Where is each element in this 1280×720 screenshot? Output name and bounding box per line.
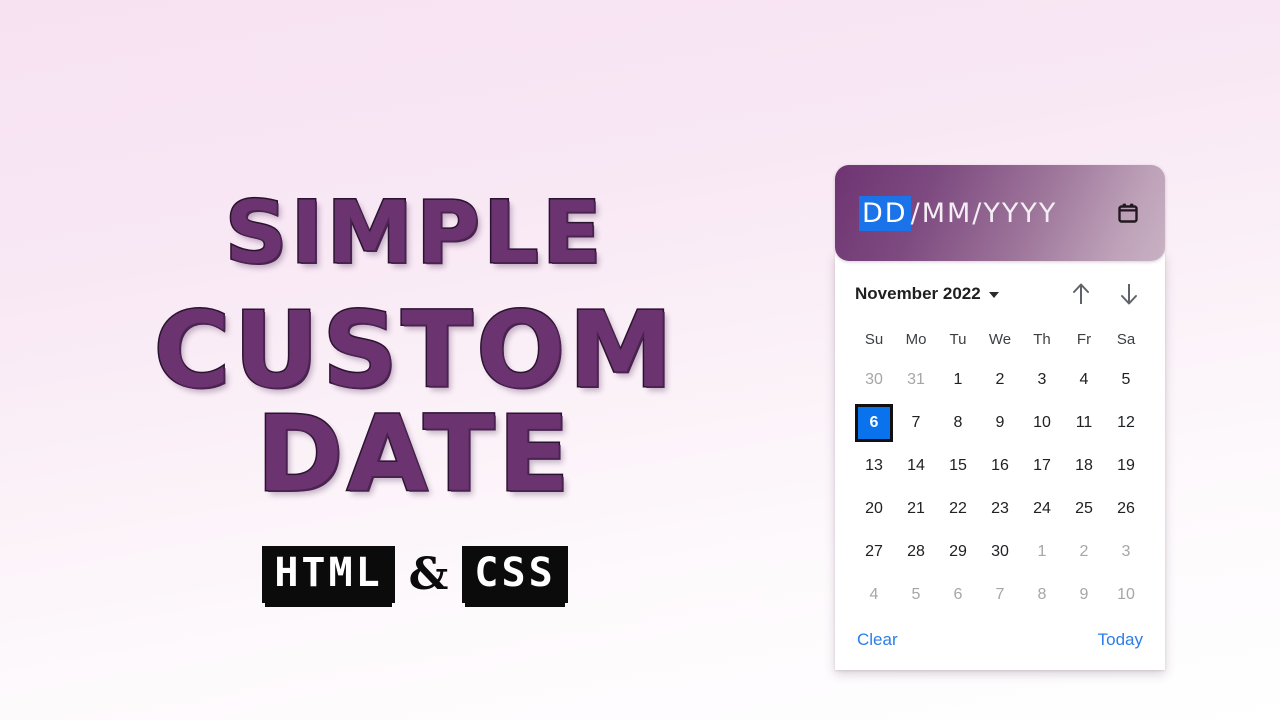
tech-badge-html: HTML bbox=[262, 546, 394, 603]
date-segment-day[interactable]: DD bbox=[859, 196, 911, 231]
calendar-cell: 1 bbox=[937, 358, 979, 401]
hero-title-line-1: Simple bbox=[0, 190, 830, 276]
calendar-week-row: 20212223242526 bbox=[853, 487, 1147, 530]
calendar-cell: 5 bbox=[895, 573, 937, 616]
calendar-day[interactable]: 9 bbox=[981, 404, 1019, 442]
calendar-cell: 20 bbox=[853, 487, 895, 530]
clear-button[interactable]: Clear bbox=[857, 630, 898, 650]
calendar-day[interactable]: 21 bbox=[897, 490, 935, 528]
calendar-cell: 19 bbox=[1105, 444, 1147, 487]
calendar-day[interactable]: 10 bbox=[1107, 576, 1145, 614]
calendar-cell: 7 bbox=[895, 401, 937, 444]
calendar-cell: 28 bbox=[895, 530, 937, 573]
calendar-cell: 6 bbox=[937, 573, 979, 616]
calendar-day[interactable]: 6 bbox=[939, 576, 977, 614]
calendar-cell: 26 bbox=[1105, 487, 1147, 530]
calendar-cell: 9 bbox=[979, 401, 1021, 444]
month-year-dropdown[interactable]: November 2022 bbox=[855, 284, 999, 304]
calendar-header: November 2022 bbox=[853, 277, 1147, 311]
calendar-panel: November 2022 bbox=[835, 253, 1165, 670]
calendar-cell: 1 bbox=[1021, 530, 1063, 573]
calendar-day[interactable]: 24 bbox=[1023, 490, 1061, 528]
hero-title-line-2: Custom Date bbox=[0, 298, 830, 506]
calendar-cell: 4 bbox=[1063, 358, 1105, 401]
calendar-day[interactable]: 2 bbox=[1065, 533, 1103, 571]
weekday-header: Th bbox=[1021, 323, 1063, 358]
date-input-field[interactable]: DD/MM/YYYY bbox=[835, 165, 1165, 261]
arrow-up-icon[interactable] bbox=[1065, 278, 1097, 310]
calendar-cell: 31 bbox=[895, 358, 937, 401]
calendar-cell: 10 bbox=[1105, 573, 1147, 616]
calendar-day[interactable]: 31 bbox=[897, 361, 935, 399]
calendar-cell: 9 bbox=[1063, 573, 1105, 616]
weekday-header: Mo bbox=[895, 323, 937, 358]
hero-subtitle: HTML & CSS bbox=[0, 546, 830, 603]
calendar-cell: 30 bbox=[853, 358, 895, 401]
calendar-day[interactable]: 9 bbox=[1065, 576, 1103, 614]
calendar-day[interactable]: 10 bbox=[1023, 404, 1061, 442]
weekday-header: Sa bbox=[1105, 323, 1147, 358]
calendar-day[interactable]: 30 bbox=[855, 361, 893, 399]
calendar-cell: 12 bbox=[1105, 401, 1147, 444]
date-separator-2: / bbox=[972, 196, 983, 231]
calendar-cell: 30 bbox=[979, 530, 1021, 573]
calendar-day[interactable]: 7 bbox=[897, 404, 935, 442]
calendar-week-row: 45678910 bbox=[853, 573, 1147, 616]
calendar-cell: 13 bbox=[853, 444, 895, 487]
calendar-day[interactable]: 11 bbox=[1065, 404, 1103, 442]
calendar-cell: 23 bbox=[979, 487, 1021, 530]
calendar-footer: Clear Today bbox=[853, 616, 1147, 656]
calendar-icon[interactable] bbox=[1113, 198, 1143, 228]
calendar-cell: 18 bbox=[1063, 444, 1105, 487]
calendar-week-row: 6789101112 bbox=[853, 401, 1147, 444]
calendar-week-row: 13141516171819 bbox=[853, 444, 1147, 487]
calendar-day[interactable]: 16 bbox=[981, 447, 1019, 485]
calendar-cell: 6 bbox=[853, 401, 895, 444]
calendar-day[interactable]: 4 bbox=[855, 576, 893, 614]
calendar-cell: 17 bbox=[1021, 444, 1063, 487]
date-segment-month[interactable]: MM bbox=[922, 196, 973, 231]
tech-badge-css: CSS bbox=[462, 546, 567, 603]
calendar-day[interactable]: 5 bbox=[897, 576, 935, 614]
weekday-header: Tu bbox=[937, 323, 979, 358]
calendar-day-rows: 3031123456789101112131415161718192021222… bbox=[853, 358, 1147, 616]
calendar-day[interactable]: 22 bbox=[939, 490, 977, 528]
calendar-day[interactable]: 30 bbox=[981, 533, 1019, 571]
calendar-cell: 4 bbox=[853, 573, 895, 616]
date-segment-year[interactable]: YYYY bbox=[983, 196, 1057, 231]
calendar-cell: 15 bbox=[937, 444, 979, 487]
calendar-nav-group bbox=[1065, 278, 1145, 310]
calendar-day[interactable]: 27 bbox=[855, 533, 893, 571]
calendar-day[interactable]: 1 bbox=[939, 361, 977, 399]
calendar-cell: 5 bbox=[1105, 358, 1147, 401]
calendar-day[interactable]: 8 bbox=[939, 404, 977, 442]
calendar-day[interactable]: 18 bbox=[1065, 447, 1103, 485]
calendar-grid: SuMoTuWeThFrSa 3031123456789101112131415… bbox=[853, 323, 1147, 616]
calendar-day[interactable]: 29 bbox=[939, 533, 977, 571]
calendar-cell: 2 bbox=[1063, 530, 1105, 573]
calendar-day[interactable]: 2 bbox=[981, 361, 1019, 399]
calendar-day[interactable]: 19 bbox=[1107, 447, 1145, 485]
calendar-cell: 2 bbox=[979, 358, 1021, 401]
calendar-day[interactable]: 3 bbox=[1023, 361, 1061, 399]
date-picker-widget[interactable]: DD/MM/YYYY November 2022 bbox=[835, 165, 1165, 670]
calendar-day[interactable]: 20 bbox=[855, 490, 893, 528]
chevron-down-icon bbox=[989, 292, 999, 298]
weekday-header-row: SuMoTuWeThFrSa bbox=[853, 323, 1147, 358]
calendar-cell: 14 bbox=[895, 444, 937, 487]
calendar-cell: 3 bbox=[1021, 358, 1063, 401]
weekday-header: We bbox=[979, 323, 1021, 358]
calendar-cell: 11 bbox=[1063, 401, 1105, 444]
calendar-day[interactable]: 1 bbox=[1023, 533, 1061, 571]
calendar-cell: 29 bbox=[937, 530, 979, 573]
calendar-cell: 16 bbox=[979, 444, 1021, 487]
calendar-cell: 22 bbox=[937, 487, 979, 530]
calendar-cell: 10 bbox=[1021, 401, 1063, 444]
calendar-day[interactable]: 12 bbox=[1107, 404, 1145, 442]
calendar-day[interactable]: 26 bbox=[1107, 490, 1145, 528]
calendar-day[interactable]: 25 bbox=[1065, 490, 1103, 528]
calendar-cell: 8 bbox=[937, 401, 979, 444]
date-input-text[interactable]: DD/MM/YYYY bbox=[859, 196, 1057, 231]
calendar-cell: 7 bbox=[979, 573, 1021, 616]
calendar-week-row: 27282930123 bbox=[853, 530, 1147, 573]
weekday-header: Fr bbox=[1063, 323, 1105, 358]
calendar-cell: 27 bbox=[853, 530, 895, 573]
calendar-day[interactable]: 8 bbox=[1023, 576, 1061, 614]
calendar-cell: 3 bbox=[1105, 530, 1147, 573]
date-separator-1: / bbox=[911, 196, 922, 231]
calendar-cell: 8 bbox=[1021, 573, 1063, 616]
calendar-day[interactable]: 15 bbox=[939, 447, 977, 485]
calendar-day[interactable]: 13 bbox=[855, 447, 893, 485]
calendar-day[interactable]: 5 bbox=[1107, 361, 1145, 399]
calendar-day[interactable]: 23 bbox=[981, 490, 1019, 528]
weekday-header: Su bbox=[853, 323, 895, 358]
calendar-day[interactable]: 28 bbox=[897, 533, 935, 571]
calendar-cell: 24 bbox=[1021, 487, 1063, 530]
arrow-down-icon[interactable] bbox=[1113, 278, 1145, 310]
calendar-day[interactable]: 14 bbox=[897, 447, 935, 485]
calendar-week-row: 303112345 bbox=[853, 358, 1147, 401]
calendar-cell: 21 bbox=[895, 487, 937, 530]
calendar-day[interactable]: 7 bbox=[981, 576, 1019, 614]
calendar-day[interactable]: 3 bbox=[1107, 533, 1145, 571]
ampersand-symbol: & bbox=[409, 549, 449, 600]
month-year-label: November 2022 bbox=[855, 284, 981, 304]
calendar-cell: 25 bbox=[1063, 487, 1105, 530]
today-button[interactable]: Today bbox=[1098, 630, 1143, 650]
calendar-day-selected[interactable]: 6 bbox=[855, 404, 893, 442]
calendar-day[interactable]: 17 bbox=[1023, 447, 1061, 485]
calendar-day[interactable]: 4 bbox=[1065, 361, 1103, 399]
hero-text-block: Simple Custom Date HTML & CSS bbox=[0, 190, 830, 603]
